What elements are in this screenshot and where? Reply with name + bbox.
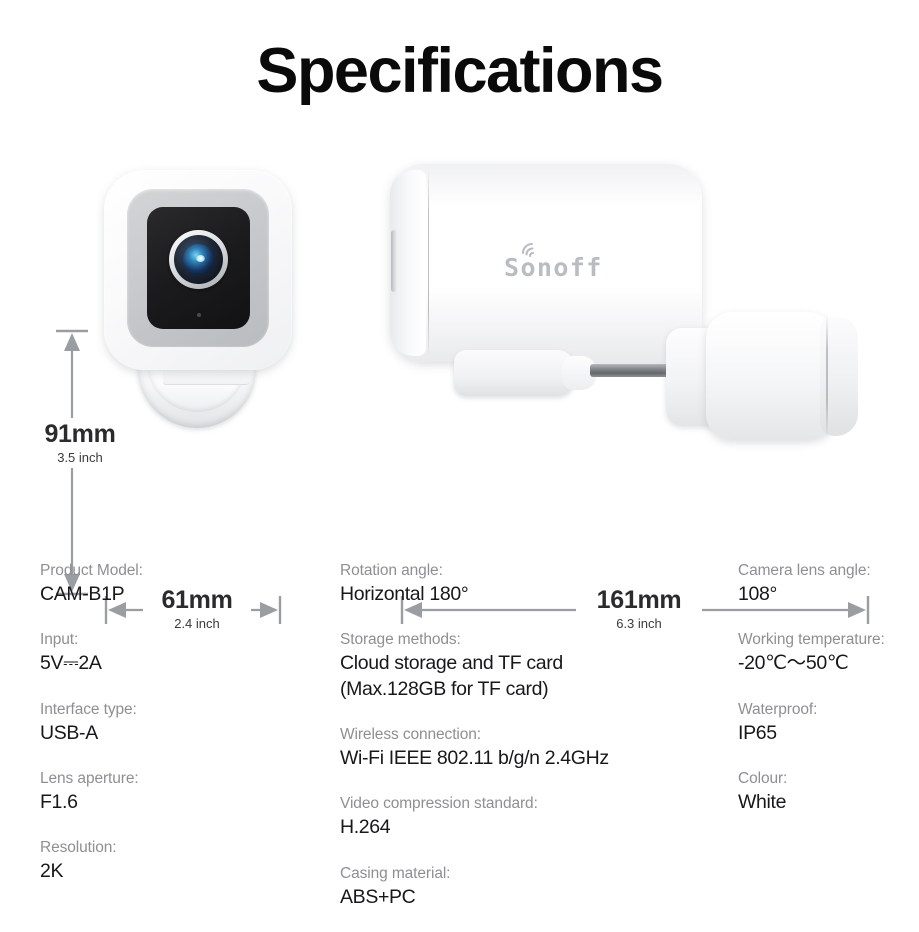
- dimension-height-label: 91mm 3.5 inch: [32, 418, 128, 468]
- spec-label: Lens aperture:: [40, 768, 330, 790]
- camera-body-seam: [428, 168, 429, 358]
- spec-value: IP65: [738, 721, 913, 746]
- spec-value: Wi-Fi IEEE 802.11 b/g/n 2.4GHz: [340, 746, 732, 771]
- spec-item: Casing material:ABS+PC: [340, 863, 732, 910]
- spec-value: Cloud storage and TF card (Max.128GB for…: [340, 651, 732, 702]
- spec-label: Resolution:: [40, 837, 330, 859]
- spec-value: F1.6: [40, 790, 330, 815]
- spec-label: Interface type:: [40, 699, 330, 721]
- spec-item: Waterproof:IP65: [738, 699, 913, 746]
- spec-item: Colour:White: [738, 768, 913, 815]
- lens-highlight: [196, 255, 205, 262]
- spec-item: Working temperature:-20℃～50℃: [738, 629, 913, 676]
- spec-label: Product Model:: [40, 560, 330, 582]
- spec-label: Rotation angle:: [340, 560, 732, 582]
- spec-value: CAM-B1P: [40, 582, 330, 607]
- spec-column-1: Product Model:CAM-B1PInput:5V⎓2AInterfac…: [40, 560, 330, 907]
- sonoff-logo: Sonoff: [504, 240, 620, 280]
- spec-item: Wireless connection:Wi-Fi IEEE 802.11 b/…: [340, 724, 732, 771]
- lens-outer-ring: [169, 230, 228, 289]
- spec-value: ABS+PC: [340, 885, 732, 910]
- lens-mid-ring: [174, 235, 223, 284]
- spec-label: Casing material:: [340, 863, 732, 885]
- spec-item: Storage methods:Cloud storage and TF car…: [340, 629, 732, 702]
- spec-item: Resolution:2K: [40, 837, 330, 884]
- spec-label: Input:: [40, 629, 330, 651]
- spec-value: USB-A: [40, 721, 330, 746]
- mount-base-ring: [826, 314, 828, 438]
- mount-neck: [454, 350, 574, 396]
- spec-value: -20℃～50℃: [738, 651, 913, 676]
- spec-item: Input:5V⎓2A: [40, 629, 330, 676]
- spec-item: Product Model:CAM-B1P: [40, 560, 330, 607]
- spec-label: Waterproof:: [738, 699, 913, 721]
- spec-value: H.264: [340, 815, 732, 840]
- spec-item: Camera lens angle:108°: [738, 560, 913, 607]
- spec-item: Rotation angle:Horizontal 180°: [340, 560, 732, 607]
- microphone-hole-icon: [197, 313, 201, 317]
- spec-value: 2K: [40, 859, 330, 884]
- spec-label: Wireless connection:: [340, 724, 732, 746]
- spec-label: Storage methods:: [340, 629, 732, 651]
- spec-label: Video compression standard:: [340, 793, 732, 815]
- product-illustration: Sonoff 91mm 3.5 inch: [0, 150, 919, 490]
- spec-value: Horizontal 180°: [340, 582, 732, 607]
- spec-label: Working temperature:: [738, 629, 913, 651]
- spec-item: Lens aperture:F1.6: [40, 768, 330, 815]
- spec-label: Colour:: [738, 768, 913, 790]
- camera-side-view: Sonoff: [390, 164, 890, 449]
- spec-value: 5V⎓2A: [40, 651, 330, 676]
- page-title: Specifications: [0, 38, 919, 104]
- spec-item: Interface type:USB-A: [40, 699, 330, 746]
- sonoff-logo-text: Sonoff: [504, 255, 603, 280]
- camera-front-view: [104, 170, 292, 430]
- spec-item: Video compression standard:H.264: [340, 793, 732, 840]
- spec-value: 108°: [738, 582, 913, 607]
- lens-glass: [183, 244, 214, 275]
- camera-lens-lip: [391, 230, 397, 292]
- spec-value: White: [738, 790, 913, 815]
- spec-column-3: Camera lens angle:108°Working temperatur…: [738, 560, 913, 837]
- spec-label: Camera lens angle:: [738, 560, 913, 582]
- spec-column-2: Rotation angle:Horizontal 180°Storage me…: [340, 560, 732, 932]
